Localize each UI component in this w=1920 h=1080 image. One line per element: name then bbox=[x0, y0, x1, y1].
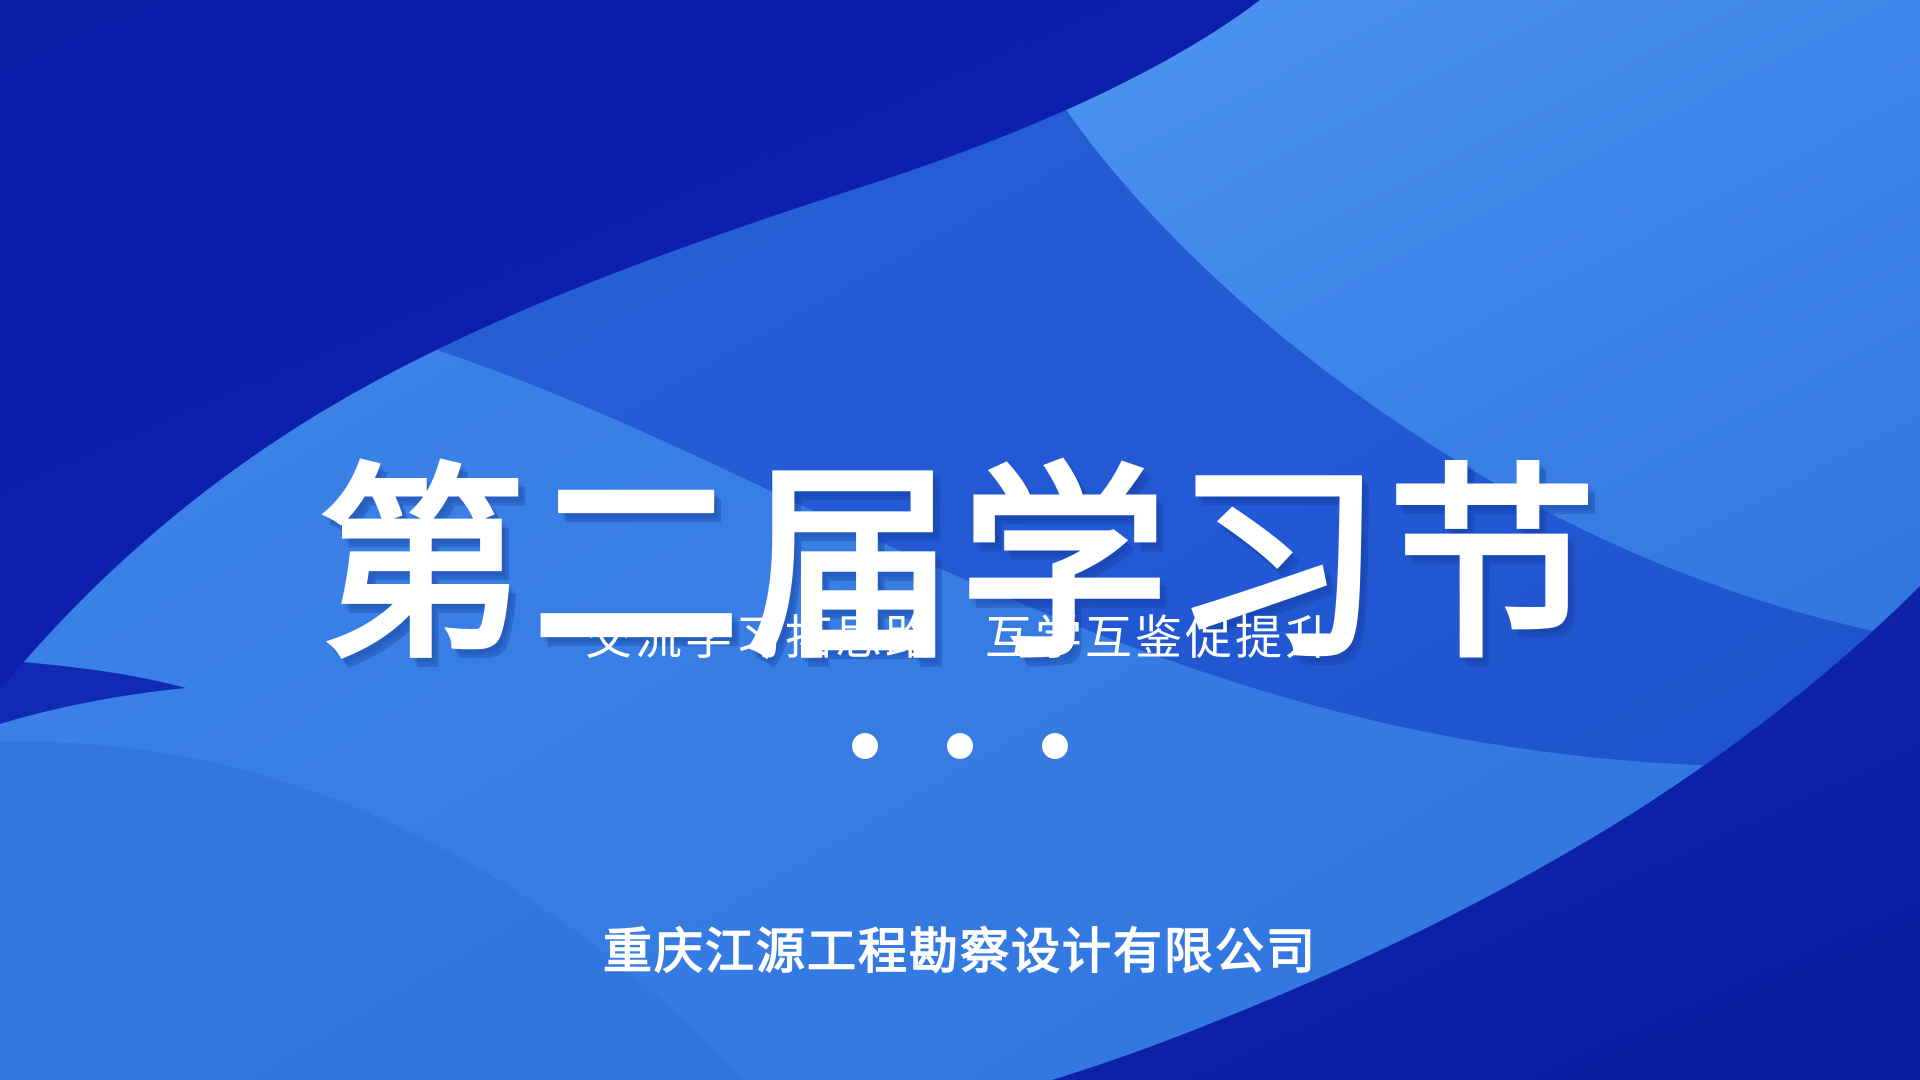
poster-content: 第二届学习节 交流学习拓思路 互学互鉴促提升 重庆江源工程勘察设计有限公司 bbox=[0, 0, 1920, 1080]
poster-canvas: 第二届学习节 交流学习拓思路 互学互鉴促提升 重庆江源工程勘察设计有限公司 bbox=[0, 0, 1920, 1080]
dot-icon bbox=[947, 733, 973, 759]
dot-icon bbox=[852, 733, 878, 759]
poster-subtitle: 交流学习拓思路 互学互鉴促提升 bbox=[0, 607, 1920, 668]
dot-icon bbox=[1042, 733, 1068, 759]
company-name: 重庆江源工程勘察设计有限公司 bbox=[0, 912, 1920, 983]
decorative-dots bbox=[0, 733, 1920, 759]
